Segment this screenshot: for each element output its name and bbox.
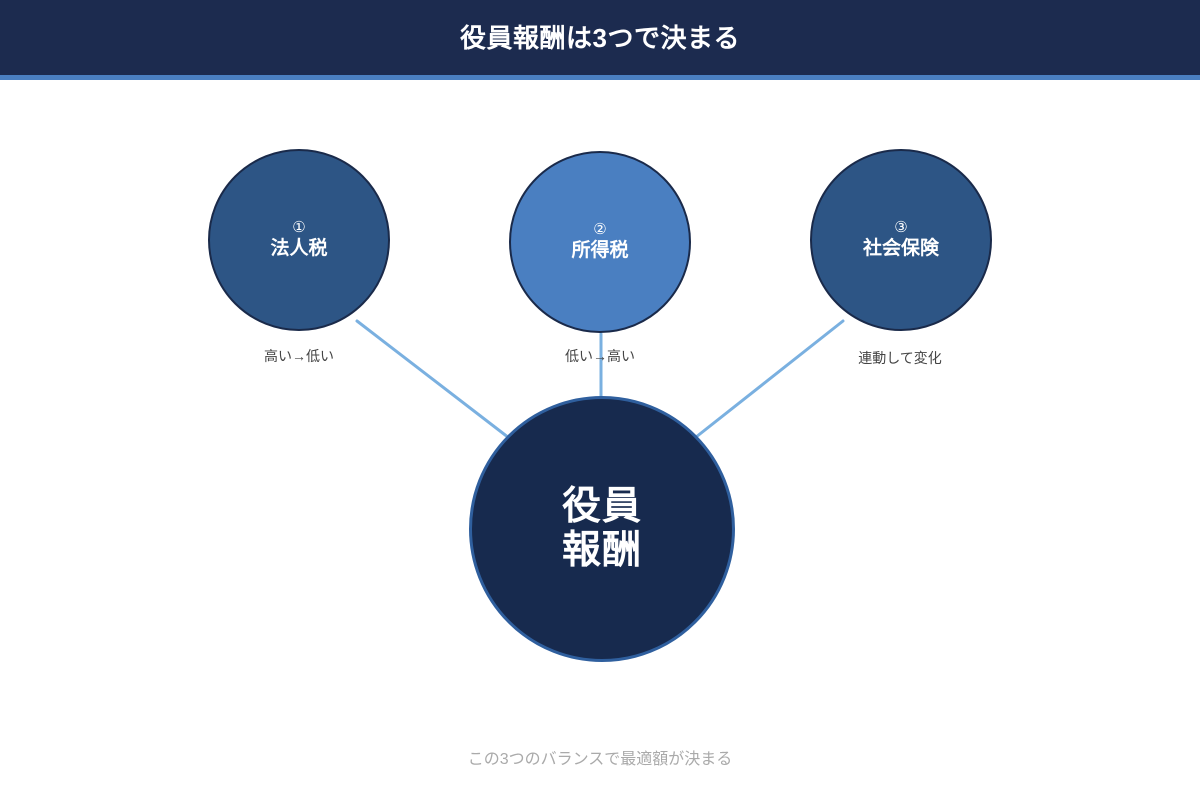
- node-social-insurance[interactable]: ③ 社会保険: [810, 149, 992, 331]
- node-label-corporate-tax: 法人税: [270, 238, 327, 260]
- edge-caption-corporate-tax: 高い→低い: [264, 349, 334, 363]
- edge-caption-social-insurance: 連動して変化: [858, 351, 942, 365]
- node-number-badge-1: ①: [292, 220, 305, 237]
- node-center-executive-compensation[interactable]: 役員 報酬: [469, 396, 735, 662]
- connector-line-social-insurance: [691, 321, 843, 441]
- center-label-line-2: 報酬: [562, 529, 642, 573]
- node-label-income-tax: 所得税: [571, 240, 628, 262]
- connector-line-corporate-tax: [357, 321, 513, 441]
- node-number-badge-2: ②: [593, 222, 606, 239]
- node-number-badge-3: ③: [894, 220, 907, 237]
- node-income-tax[interactable]: ② 所得税: [509, 151, 691, 333]
- slide-canvas: 役員報酬は3つで決まる ① 法人税 ② 所得税 ③ 社会保険 高い→低い 低い→…: [0, 0, 1200, 800]
- center-label-line-1: 役員: [562, 485, 642, 529]
- footer-note: この3つのバランスで最適額が決まる: [0, 752, 1200, 768]
- node-corporate-tax[interactable]: ① 法人税: [208, 149, 390, 331]
- node-label-social-insurance: 社会保険: [863, 238, 939, 260]
- edge-caption-income-tax: 低い→高い: [565, 349, 635, 363]
